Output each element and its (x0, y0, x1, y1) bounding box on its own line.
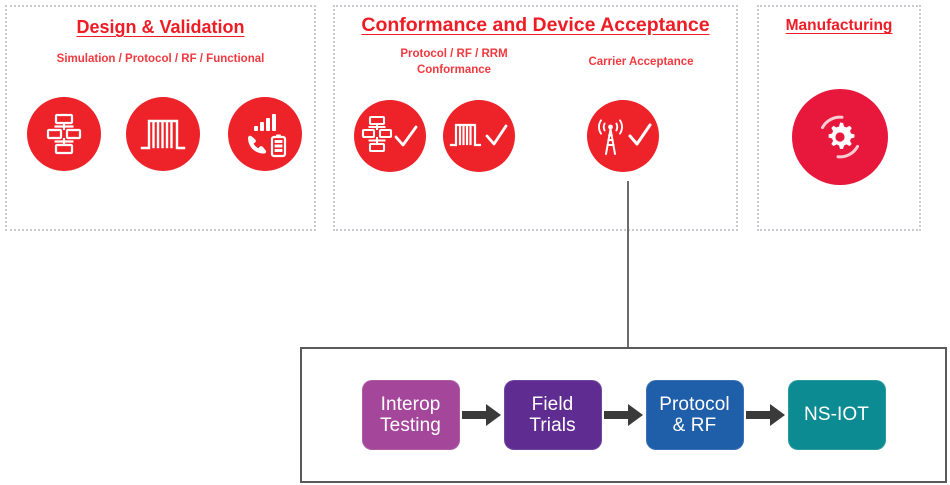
panel-design-validation: Design & Validation Simulation / Protoco… (5, 5, 316, 231)
flow-step-field-trials[interactable]: Field Trials (504, 380, 602, 450)
icon-circle-protocol-stack[interactable] (27, 97, 101, 171)
flow-step-protocol-rf-line2: & RF (657, 415, 732, 436)
flow-arrow-3 (744, 402, 788, 428)
conformance-group-label-line1: Protocol / RF / RRM (349, 47, 559, 63)
flow-step-interop-testing-line1: Interop (378, 394, 443, 415)
panel-manufacturing-title: Manufacturing (759, 17, 919, 35)
flow-arrow-1 (460, 402, 504, 428)
diagram-canvas: Design & Validation Simulation / Protoco… (0, 0, 950, 485)
icon-circle-device-functional[interactable] (228, 97, 302, 171)
icon-circle-protocol-stack-check[interactable] (354, 100, 426, 172)
flow-step-row: Interop Testing Field Trials (302, 349, 945, 481)
waveform-pulse-check-icon (450, 119, 508, 153)
waveform-pulse-icon (141, 117, 185, 151)
icon-circle-waveform-check[interactable] (443, 100, 515, 172)
device-functional-icon (242, 112, 288, 156)
panel-conformance-title: Conformance and Device Acceptance (335, 14, 736, 37)
panel-manufacturing: Manufacturing (757, 5, 921, 231)
cell-tower-check-icon (594, 115, 652, 157)
gear-cycle-icon (811, 108, 869, 166)
panel-design-validation-title: Design & Validation (7, 17, 314, 38)
protocol-stack-check-icon (362, 116, 418, 156)
panel-design-validation-subtitle: Simulation / Protocol / RF / Functional (7, 52, 314, 68)
flow-step-interop-testing[interactable]: Interop Testing (362, 380, 460, 450)
flow-step-protocol-rf[interactable]: Protocol & RF (646, 380, 744, 450)
panel-conformance-device-acceptance: Conformance and Device Acceptance Protoc… (333, 5, 738, 231)
flow-step-field-trials-line2: Trials (527, 415, 577, 436)
flow-step-protocol-rf-line1: Protocol (657, 394, 732, 415)
protocol-stack-icon (47, 113, 81, 155)
conformance-group-label: Protocol / RF / RRM Conformance (349, 47, 559, 78)
flow-step-interop-testing-line2: Testing (378, 415, 443, 436)
conformance-group-label-line2: Conformance (349, 63, 559, 79)
flow-panel: Interop Testing Field Trials (300, 347, 947, 483)
icon-circle-cell-tower-check[interactable] (587, 100, 659, 172)
flow-step-field-trials-line1: Field (527, 394, 577, 415)
carrier-acceptance-group-label: Carrier Acceptance (551, 55, 731, 71)
flow-step-ns-iot[interactable]: NS-IOT (788, 380, 886, 450)
flow-step-ns-iot-line1: NS-IOT (802, 404, 871, 425)
flow-arrow-2 (602, 402, 646, 428)
connector-line-carrier-to-flow (627, 181, 629, 349)
icon-circle-waveform[interactable] (126, 97, 200, 171)
icon-circle-manufacturing[interactable] (792, 89, 888, 185)
